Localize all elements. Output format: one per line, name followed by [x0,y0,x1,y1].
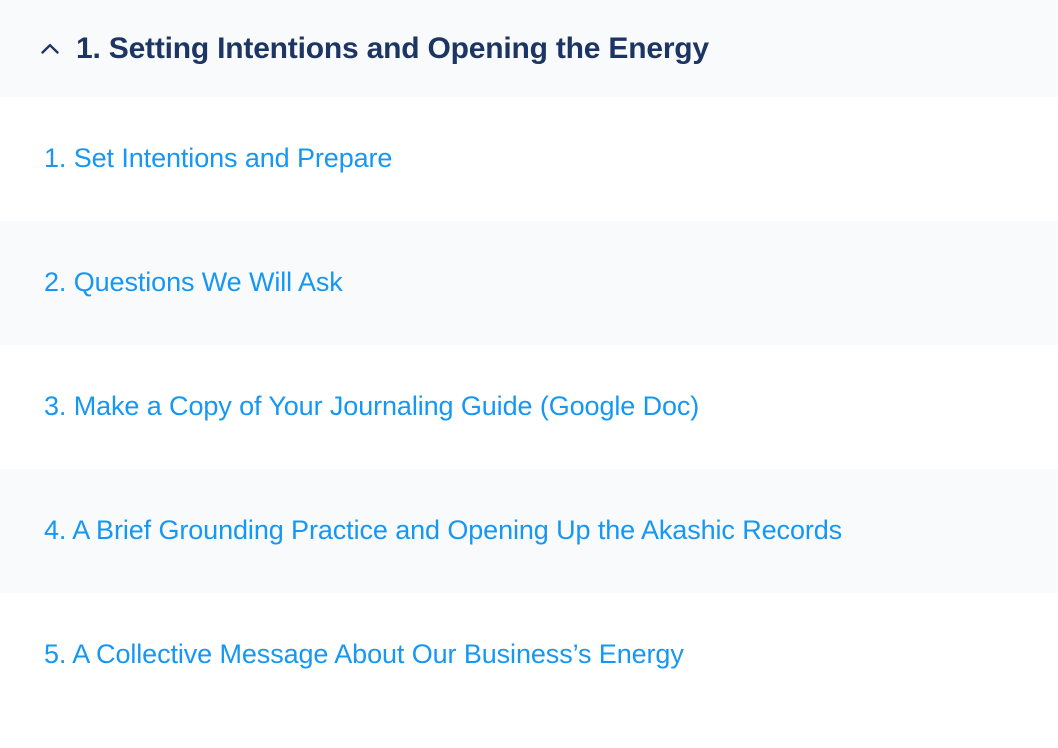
list-item[interactable]: 5. A Collective Message About Our Busine… [0,593,1058,717]
lesson-title: 5. A Collective Message About Our Busine… [44,638,684,672]
lesson-title: 3. Make a Copy of Your Journaling Guide … [44,390,699,424]
list-item[interactable]: 3. Make a Copy of Your Journaling Guide … [0,345,1058,469]
chevron-up-icon[interactable] [36,35,64,63]
lesson-title: 1. Set Intentions and Prepare [44,142,392,176]
lesson-title: 4. A Brief Grounding Practice and Openin… [44,514,842,548]
list-item[interactable]: 4. A Brief Grounding Practice and Openin… [0,469,1058,593]
section-header-toggle[interactable]: 1. Setting Intentions and Opening the En… [0,0,1058,97]
list-item[interactable]: 2. Questions We Will Ask [0,221,1058,345]
section-title: 1. Setting Intentions and Opening the En… [76,31,709,67]
lesson-title: 2. Questions We Will Ask [44,266,343,300]
list-item[interactable]: 1. Set Intentions and Prepare [0,97,1058,221]
course-module-accordion: 1. Setting Intentions and Opening the En… [0,0,1058,748]
lesson-list: 1. Set Intentions and Prepare 2. Questio… [0,97,1058,717]
